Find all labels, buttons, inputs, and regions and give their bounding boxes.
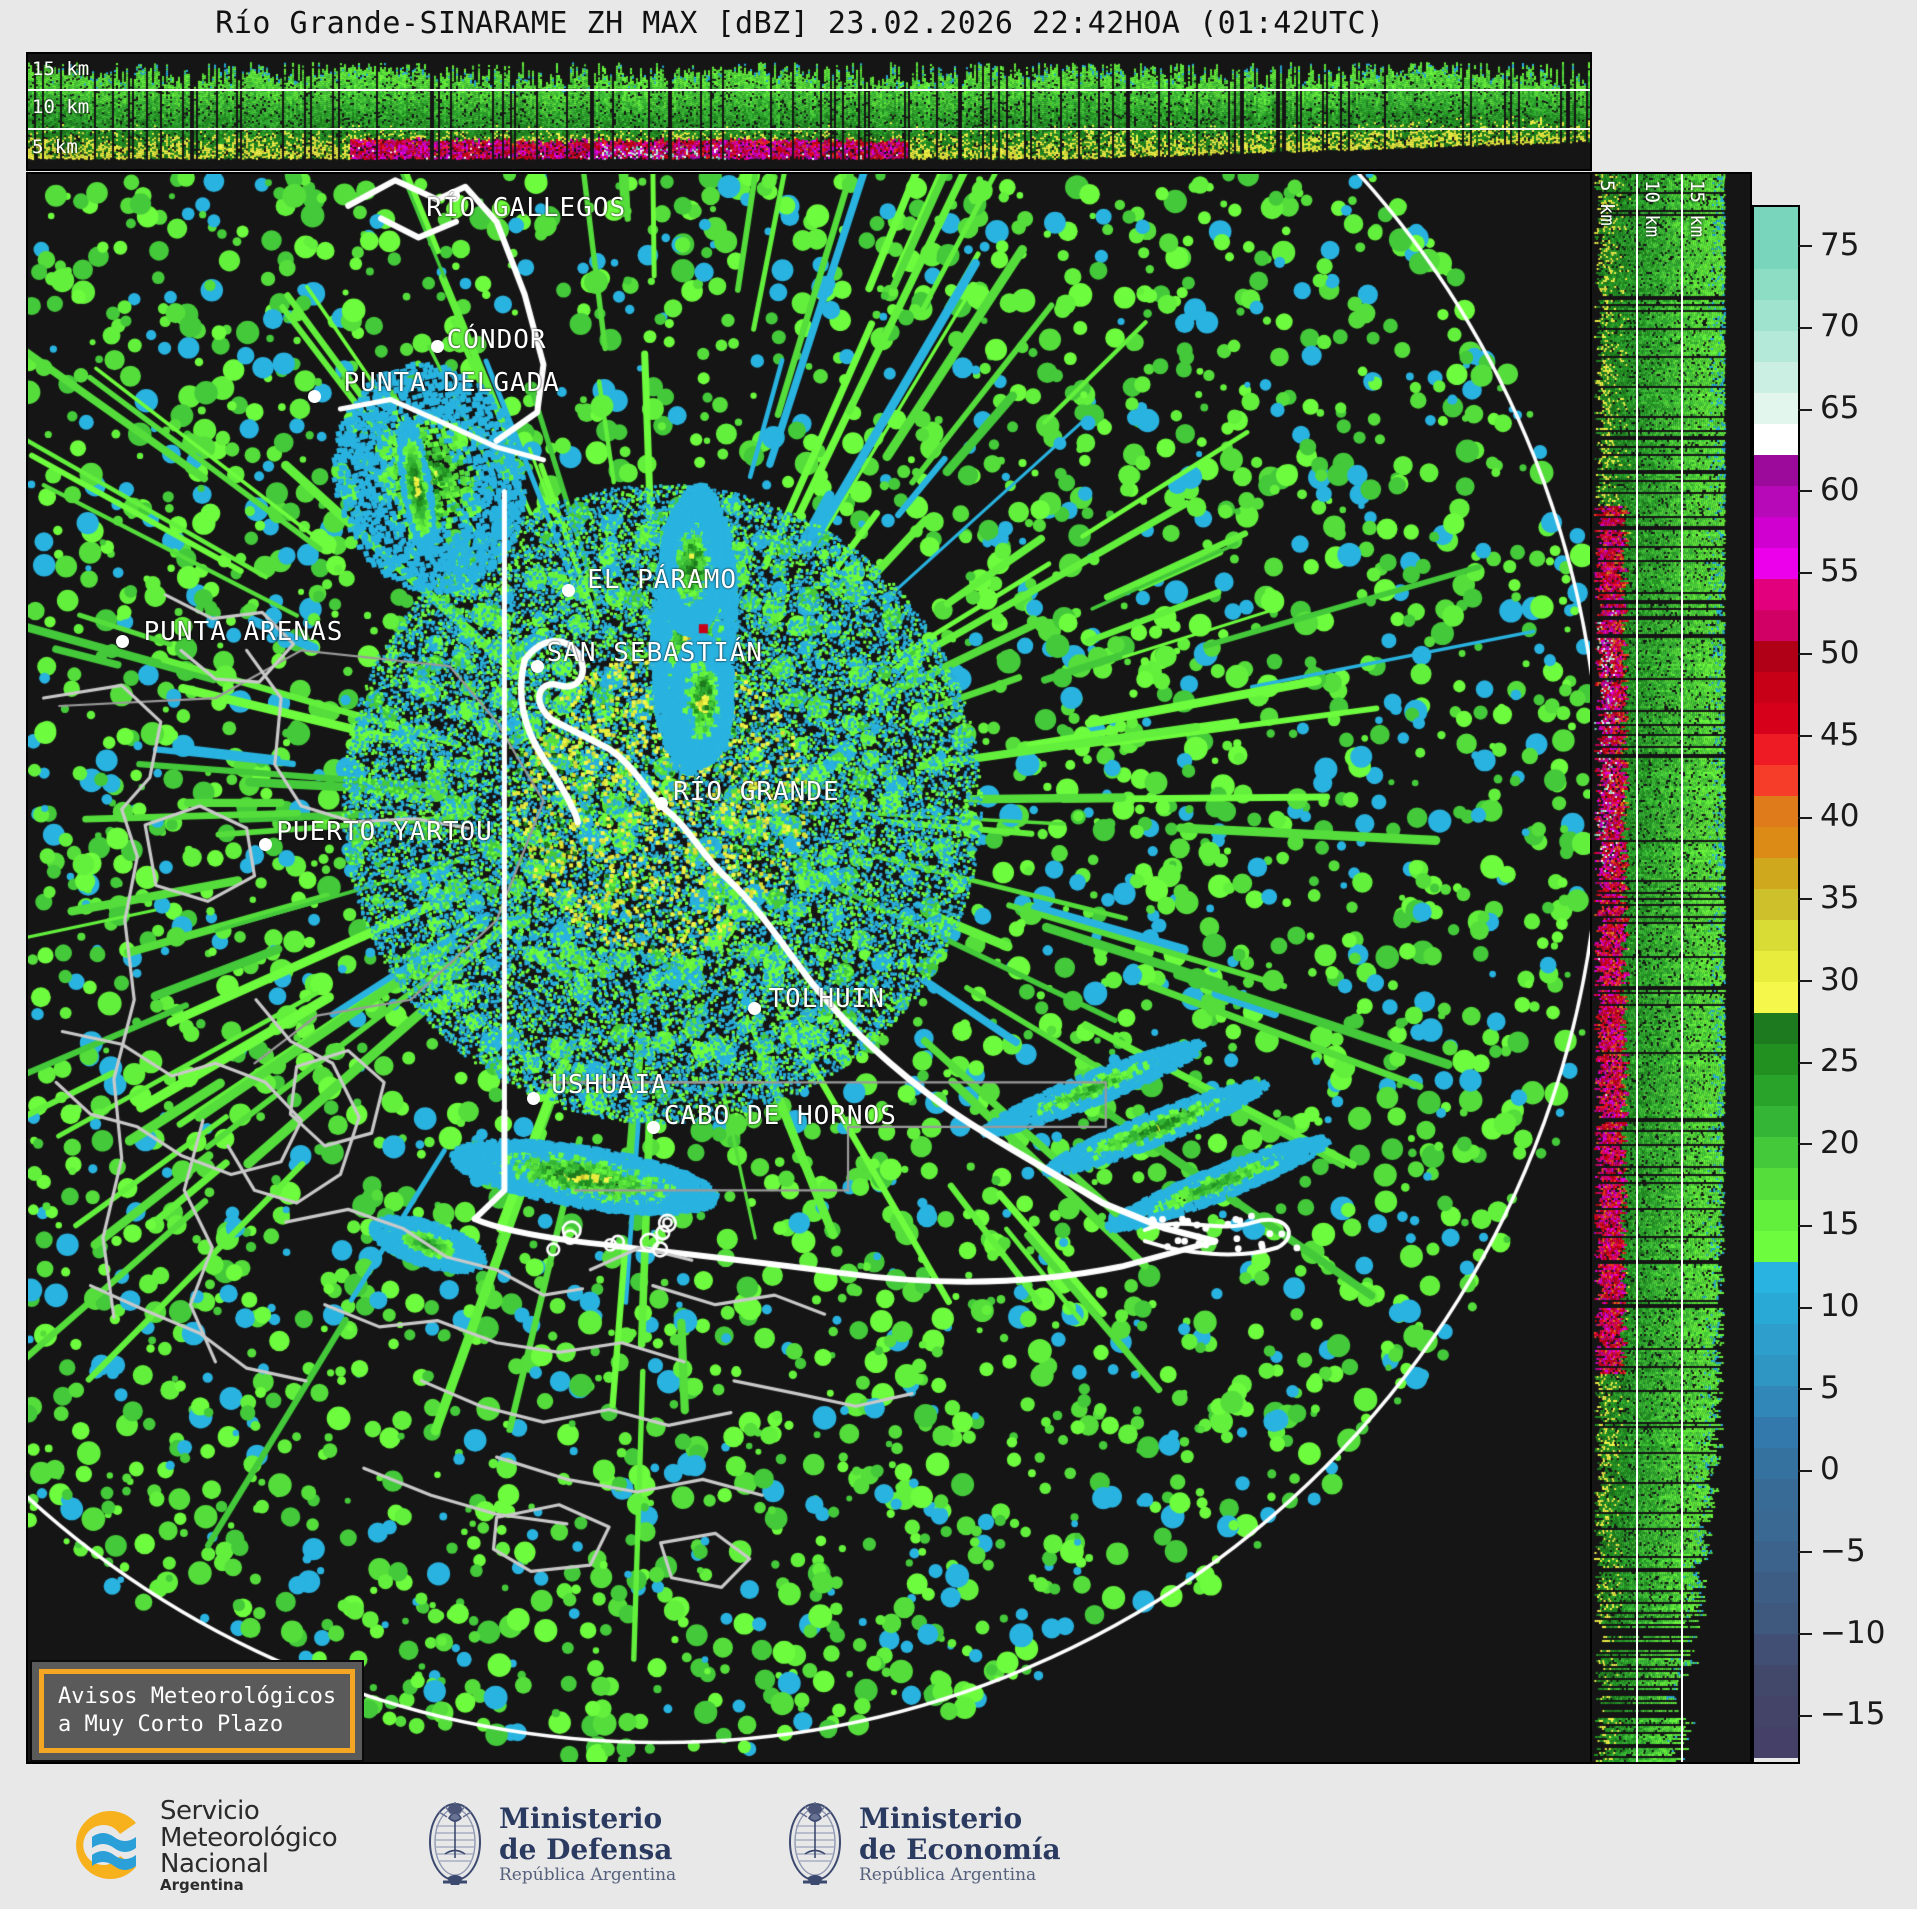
colorbar-tick: 10 [1798, 1307, 1859, 1308]
warning-line-1: Avisos Meteorológicos [58, 1683, 336, 1711]
height-label-15km-side: 15 km [1686, 180, 1708, 237]
colorbar-segment [1754, 393, 1798, 424]
tick-label: −15 [1820, 1699, 1885, 1730]
defensa-line-2: de Defensa [499, 1834, 676, 1865]
smn-mark-icon [58, 1799, 150, 1891]
city-label-cóndor: CÓNDOR [447, 325, 547, 355]
colorbar-segment [1754, 1293, 1798, 1324]
radar-ppi-panel[interactable]: RÍO GALLEGOSCÓNDORPUNTA DELGADAPUNTA ARE… [26, 172, 1592, 1764]
colorbar-segment [1754, 1262, 1798, 1293]
colorbar-segment [1754, 1075, 1798, 1106]
tick-mark [1798, 735, 1812, 737]
tick-mark [1798, 1388, 1812, 1390]
colorbar-segment [1754, 579, 1798, 610]
warning-badge-inner: Avisos Meteorológicos a Muy Corto Plazo [39, 1669, 355, 1753]
height-label-10km-side: 10 km [1641, 180, 1663, 237]
colorbar-tick: 50 [1798, 654, 1859, 655]
tick-label: 55 [1820, 556, 1859, 587]
tick-label: 15 [1820, 1209, 1859, 1240]
tick-mark [1798, 817, 1812, 819]
tick-mark [1798, 1307, 1812, 1309]
city-label-río-gallegos: RÍO GALLEGOS [426, 193, 626, 223]
tick-mark [1798, 1225, 1812, 1227]
colorbar-tick: 70 [1798, 327, 1859, 328]
city-marker-tolhuin [748, 1002, 761, 1015]
page-title: Río Grande-SINARAME ZH MAX [dBZ] 23.02.2… [0, 6, 1600, 41]
colorbar-segment [1754, 424, 1798, 455]
economia-subline: República Argentina [859, 1866, 1061, 1885]
tick-label: 35 [1820, 883, 1859, 914]
top-cross-section-panel: 15 km 10 km 5 km [26, 52, 1592, 171]
height-label-15km: 15 km [32, 58, 89, 80]
height-label-10km: 10 km [32, 96, 89, 118]
colorbar-tick: 20 [1798, 1144, 1859, 1145]
colorbar-tick: −15 [1798, 1715, 1885, 1716]
smn-line-1: Servicio [160, 1798, 337, 1825]
colorbar-tick: 55 [1798, 572, 1859, 573]
colorbar-segment [1754, 1448, 1798, 1479]
city-label-san-sebastián: SAN SEBASTIÁN [547, 638, 764, 668]
colorbar-segment [1754, 238, 1798, 269]
colorbar-segment [1754, 610, 1798, 641]
defensa-subline: República Argentina [499, 1866, 676, 1885]
colorbar-tick: 40 [1798, 817, 1859, 818]
colorbar-tick: 75 [1798, 246, 1859, 247]
colorbar-segment [1754, 1013, 1798, 1044]
colorbar-segment [1754, 1572, 1798, 1603]
colorbar-segment [1754, 1386, 1798, 1417]
city-marker-ushuaia [527, 1092, 540, 1105]
economia-line-2: de Economía [859, 1834, 1061, 1865]
defensa-line-1: Ministerio [499, 1803, 676, 1834]
tick-mark [1798, 409, 1812, 411]
colorbar-segment [1754, 1665, 1798, 1696]
colorbar-segment [1754, 1231, 1798, 1262]
city-label-ushuaia: USHUAIA [551, 1070, 668, 1100]
tick-label: 5 [1820, 1373, 1840, 1404]
tick-label: 30 [1820, 965, 1859, 996]
tick-mark [1798, 1715, 1812, 1717]
logo-smn: Servicio Meteorológico Nacional Argentin… [58, 1798, 337, 1893]
tick-mark [1798, 1470, 1812, 1472]
height-gridline-10km-side [1681, 174, 1683, 1762]
colorbar-segment [1754, 1168, 1798, 1199]
colorbar-tick: 30 [1798, 981, 1859, 982]
colorbar-segment [1754, 1696, 1798, 1727]
colorbar-tick: 25 [1798, 1062, 1859, 1063]
tick-label: −5 [1820, 1536, 1866, 1567]
colorbar-tick: 45 [1798, 736, 1859, 737]
colorbar-segment [1754, 641, 1798, 672]
height-label-5km-side: 5 km [1596, 180, 1618, 226]
colorbar-segment [1754, 1200, 1798, 1231]
colorbar-tick: 15 [1798, 1225, 1859, 1226]
tick-mark [1798, 1143, 1812, 1145]
tick-label: 60 [1820, 475, 1859, 506]
tick-label: 65 [1820, 393, 1859, 424]
colorbar-segment [1754, 1355, 1798, 1386]
colorbar-segment [1754, 362, 1798, 393]
smn-subline: Argentina [160, 1878, 337, 1893]
height-gridline-15km [28, 89, 1590, 91]
colorbar-segment [1754, 982, 1798, 1013]
colorbar-segment [1754, 1044, 1798, 1075]
colorbar-segment [1754, 1324, 1798, 1355]
city-label-punta-delgada: PUNTA DELGADA [344, 368, 561, 398]
footer-logos: Servicio Meteorológico Nacional Argentin… [0, 1788, 1600, 1908]
economia-line-1: Ministerio [859, 1803, 1061, 1834]
colorbar-segment [1754, 951, 1798, 982]
tick-mark [1798, 245, 1812, 247]
colorbar-ticks: 757065605550454035302520151050−5−10−15 [1798, 205, 1908, 1760]
smn-line-3: Nacional [160, 1851, 337, 1878]
tick-mark [1798, 1062, 1812, 1064]
colorbar-segment [1754, 455, 1798, 486]
colorbar-segment [1754, 796, 1798, 827]
colorbar-segment [1754, 300, 1798, 331]
colorbar-segment [1754, 1479, 1798, 1510]
tick-label: 40 [1820, 801, 1859, 832]
tick-label: 45 [1820, 720, 1859, 751]
city-label-puerto-yartou: PUERTO YARTOU [276, 817, 493, 847]
tick-mark [1798, 490, 1812, 492]
city-marker-cóndor [431, 340, 444, 353]
colorbar-segment [1754, 1510, 1798, 1541]
city-label-punta-arenas: PUNTA ARENAS [144, 617, 344, 647]
tick-mark [1798, 653, 1812, 655]
smn-line-2: Meteorológico [160, 1825, 337, 1852]
height-label-5km: 5 km [32, 136, 78, 158]
colorbar [1752, 205, 1796, 1760]
side-cross-section-panel: 5 km 10 km 15 km [1590, 172, 1752, 1764]
colorbar-tick: 60 [1798, 491, 1859, 492]
colorbar-segment [1754, 1727, 1798, 1758]
tick-label: −10 [1820, 1618, 1885, 1649]
tick-label: 50 [1820, 638, 1859, 669]
tick-label: 10 [1820, 1291, 1859, 1322]
height-gridline-10km [28, 128, 1590, 130]
colorbar-tick: 35 [1798, 899, 1859, 900]
city-label-río-grande: RÍO GRANDE [673, 777, 840, 807]
colorbar-gradient [1752, 205, 1800, 1764]
city-label-tolhuin: TOLHUIN [768, 984, 885, 1014]
colorbar-segment [1754, 920, 1798, 951]
colorbar-segment [1754, 1603, 1798, 1634]
city-marker-río-grande [655, 797, 668, 810]
tick-label: 75 [1820, 230, 1859, 261]
logo-ministerio-defensa: Ministerio de Defensa República Argentin… [425, 1796, 676, 1892]
city-marker-cabo-de-hornos [647, 1121, 660, 1134]
city-label-cabo-de-hornos: CABO DE HORNOS [664, 1101, 897, 1131]
tick-label: 25 [1820, 1046, 1859, 1077]
colorbar-segment [1754, 1541, 1798, 1572]
tick-label: 0 [1820, 1454, 1840, 1485]
colorbar-segment [1754, 517, 1798, 548]
colorbar-segment [1754, 269, 1798, 300]
tick-mark [1798, 1551, 1812, 1553]
argentina-coat-of-arms-icon-2 [785, 1796, 845, 1892]
warning-line-2: a Muy Corto Plazo [58, 1711, 336, 1739]
colorbar-segment [1754, 1106, 1798, 1137]
tick-mark [1798, 1633, 1812, 1635]
colorbar-segment [1754, 672, 1798, 703]
height-gridline-5km-side [1636, 174, 1638, 1762]
colorbar-tick: 0 [1798, 1470, 1840, 1471]
city-label-el-páramo: EL PÁRAMO [587, 565, 737, 595]
colorbar-segment [1754, 548, 1798, 579]
tick-mark [1798, 572, 1812, 574]
tick-mark [1798, 898, 1812, 900]
colorbar-segment [1754, 486, 1798, 517]
colorbar-segment [1754, 1634, 1798, 1665]
colorbar-segment [1754, 734, 1798, 765]
logo-ministerio-economia: Ministerio de Economía República Argenti… [785, 1796, 1061, 1892]
colorbar-segment [1754, 889, 1798, 920]
colorbar-tick: 65 [1798, 409, 1859, 410]
colorbar-segment [1754, 827, 1798, 858]
colorbar-tick: −10 [1798, 1634, 1885, 1635]
warning-badge[interactable]: Avisos Meteorológicos a Muy Corto Plazo [30, 1660, 364, 1762]
tick-label: 20 [1820, 1128, 1859, 1159]
colorbar-segment [1754, 858, 1798, 889]
colorbar-tick: −5 [1798, 1552, 1866, 1553]
colorbar-segment [1754, 703, 1798, 734]
tick-mark [1798, 980, 1812, 982]
argentina-coat-of-arms-icon [425, 1796, 485, 1892]
tick-label: 70 [1820, 311, 1859, 342]
colorbar-segment [1754, 331, 1798, 362]
colorbar-segment [1754, 1417, 1798, 1448]
tick-mark [1798, 327, 1812, 329]
colorbar-segment [1754, 207, 1798, 238]
colorbar-tick: 5 [1798, 1389, 1840, 1390]
colorbar-segment [1754, 1137, 1798, 1168]
colorbar-segment [1754, 765, 1798, 796]
city-marker-punta-arenas [116, 635, 129, 648]
